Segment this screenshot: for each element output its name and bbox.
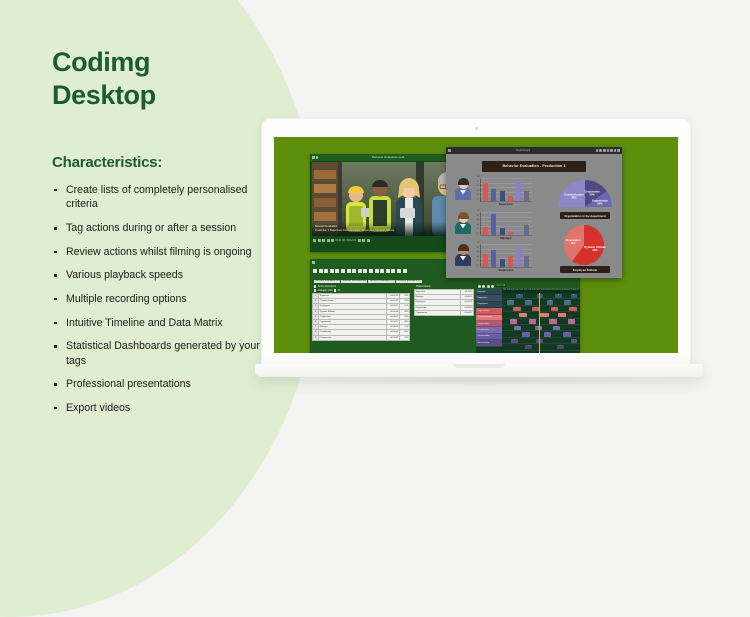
pencil-icon[interactable] — [341, 269, 345, 273]
page-title-line-2: Desktop — [52, 79, 282, 112]
dashboard-body: Behavior Evaluation - Production 1 02040… — [446, 154, 622, 278]
timeline-event[interactable]: 1 — [511, 339, 518, 343]
laptop-screen: Behavior Evaluation.codt — [274, 137, 678, 353]
bar[interactable] — [491, 250, 496, 267]
ruler-tick: 1:00 — [503, 290, 506, 291]
laptop-mockup: Behavior Evaluation.codt — [255, 118, 703, 386]
timeline-event[interactable]: 1 — [522, 332, 530, 336]
page-title-line-1: Codimg — [52, 46, 282, 79]
chart-icon[interactable] — [397, 269, 401, 273]
rewind-icon[interactable] — [478, 285, 481, 288]
ruler-tick: 3:00 — [511, 290, 514, 291]
playlist-panel-label: Playlist Matrix — [416, 285, 431, 288]
y-tick-label: 60 — [477, 186, 479, 187]
y-tick-label: 100 — [477, 243, 480, 244]
person-icon[interactable] — [335, 269, 339, 273]
pie-slice-value: 60% — [592, 248, 598, 252]
radio-icon[interactable] — [334, 289, 336, 291]
link-icon[interactable] — [358, 269, 362, 273]
table-cell: Organization — [415, 310, 461, 315]
y-tick-label: 80 — [477, 216, 479, 217]
timeline-event[interactable]: 4 — [571, 294, 577, 298]
video-caption-line-1: Behavior Evaluation — [312, 222, 468, 229]
avatar-supervisor — [454, 178, 472, 200]
table-cell: 00:04:57 — [460, 310, 473, 315]
maximize-icon[interactable] — [614, 149, 617, 152]
timeline-event[interactable]: 4 — [568, 319, 575, 323]
table-icon[interactable] — [375, 269, 379, 273]
table-cell: Conversation — [319, 335, 386, 340]
video-caption-line-2: Production 1 Supervisor, Communication, … — [312, 229, 468, 233]
y-tick-label: 100 — [477, 211, 480, 212]
bar[interactable] — [508, 232, 513, 235]
bar-chart-supervisor[interactable]: 020406080100Supervisor — [480, 178, 532, 206]
ruler-tick: 8:00 — [532, 290, 535, 291]
timeline-timecode: 00:01:38 — [496, 285, 507, 287]
timeline-body: Show descriptors Category (10) All 1Supe… — [310, 283, 580, 353]
timeline-event[interactable]: 1 — [519, 313, 527, 317]
bar[interactable] — [483, 183, 488, 201]
y-tick-label: 100 — [477, 177, 480, 178]
feature-item: Statistical Dashboards generated by your… — [52, 339, 282, 368]
video-window-title: Behavior Evaluation.codt — [318, 156, 458, 159]
y-tick-label: 40 — [477, 257, 479, 258]
bar[interactable] — [516, 232, 521, 234]
table-row[interactable]: 9Conversation00:06:0210% — [313, 335, 410, 340]
ruler-tick: 2:00 — [507, 290, 510, 291]
timeline-event[interactable]: 3 — [551, 307, 558, 311]
ruler-tick: 6:00 — [524, 290, 527, 291]
timeline-event[interactable]: 3 — [558, 313, 566, 317]
bar[interactable] — [500, 259, 505, 267]
bar-chart-manager[interactable]: 020406080100Manager — [480, 212, 532, 240]
feature-item: Export videos — [52, 401, 282, 416]
bar[interactable] — [516, 247, 521, 267]
timeline-right-pane: 00:01:38 ManagerSupervisorEmployeesOrgan… — [476, 283, 580, 353]
step-forward-icon[interactable] — [327, 239, 330, 242]
search-icon[interactable] — [386, 269, 390, 273]
y-tick-label: 20 — [477, 195, 479, 196]
edit-icon[interactable] — [358, 239, 361, 242]
timeline-event[interactable]: 3 — [553, 326, 559, 330]
y-tick-label: 80 — [477, 248, 479, 249]
video-caption-overlay: Behavior Evaluation Production 1 Supervi… — [312, 222, 468, 236]
dashboard-window-title: Dashboard — [451, 149, 596, 152]
bar[interactable] — [483, 254, 488, 267]
ruler-tick: 18:00 — [574, 290, 578, 291]
pie-slice-value: 30% — [590, 192, 596, 196]
playlist-panel-label-row: Playlist Matrix — [416, 285, 474, 288]
timeline-event[interactable]: 1 — [514, 326, 521, 330]
lock-icon[interactable] — [330, 269, 334, 273]
bar[interactable] — [524, 256, 529, 267]
timeline-event[interactable]: 2 — [529, 319, 536, 323]
feature-item: Intuitive Timeline and Data Matrix — [52, 316, 282, 331]
bar[interactable] — [491, 189, 496, 201]
record-icon[interactable] — [491, 285, 494, 288]
scissors-icon[interactable] — [367, 239, 370, 242]
timeline-canvas[interactable]: 1:002:003:004:005:006:007:008:009:0010:0… — [502, 289, 580, 353]
timeline-event[interactable]: 3 — [571, 339, 577, 343]
minimize-icon[interactable] — [603, 149, 606, 152]
y-tick-label: 0 — [477, 266, 478, 267]
table-row[interactable]: Organization00:04:57 — [415, 310, 474, 315]
feature-item: Multiple recording options — [52, 292, 282, 307]
bar-chart-title: Manager — [480, 236, 532, 240]
page-title: Codimg Desktop — [52, 46, 282, 112]
grid-icon[interactable] — [369, 269, 373, 273]
timeline-event[interactable]: 3 — [563, 332, 571, 336]
checkbox-icon[interactable] — [314, 285, 316, 287]
video-timecode: 00:01:38 / 00:12:04 — [336, 239, 357, 242]
show-descriptors-checkbox[interactable]: Show descriptors — [314, 285, 410, 288]
bar[interactable] — [500, 191, 505, 201]
laptop-lid: Behavior Evaluation.codt — [261, 118, 691, 366]
dashboard-titlebar[interactable]: Dashboard — [446, 147, 622, 154]
features-list: Create lists of completely personalised … — [52, 183, 282, 416]
dashboard-window-controls[interactable] — [596, 149, 620, 152]
bar[interactable] — [491, 214, 496, 234]
pie-chart-organization-label: Organization in the department — [560, 212, 610, 219]
settings-icon[interactable] — [599, 149, 602, 152]
y-tick-label: 0 — [477, 234, 478, 235]
category-panel-label: Category (10) — [318, 289, 333, 292]
plus-icon[interactable] — [363, 269, 367, 273]
timeline-event[interactable]: 4 — [569, 307, 577, 311]
zoom-out-icon[interactable] — [391, 269, 395, 273]
bar-chart-title: Supervisor — [480, 202, 532, 206]
timeline-rows[interactable]: 123412341234123123412312312312 — [502, 293, 580, 351]
y-tick-label: 60 — [477, 220, 479, 221]
avatar-manager — [454, 212, 472, 234]
copy-icon[interactable] — [380, 269, 384, 273]
timeline-event[interactable]: 2 — [539, 313, 548, 317]
rewind-icon[interactable] — [313, 239, 316, 242]
playlist-table[interactable]: Supervisor00:11:12Manager00:08:14Employe… — [414, 289, 474, 316]
app-icon — [312, 156, 315, 159]
edit-icon[interactable] — [596, 149, 599, 152]
timeline-row-labels[interactable]: ManagerSupervisorEmployeesOrganizationCo… — [476, 289, 502, 353]
laptop-notch — [453, 364, 505, 368]
category-count-row[interactable]: Category (10) All — [314, 289, 410, 292]
bar[interactable] — [524, 225, 529, 234]
cloud-icon[interactable] — [403, 269, 407, 273]
playlist-matrix-panel: Playlist Matrix Supervisor00:11:12Manage… — [412, 283, 476, 353]
feature-item: Create lists of completely personalised … — [52, 183, 282, 212]
characteristics-heading: Characteristics: — [52, 154, 282, 171]
avatar-employee — [454, 244, 472, 266]
y-tick-label: 40 — [477, 191, 479, 192]
forward-icon[interactable] — [331, 239, 334, 242]
avatar-hair — [458, 244, 469, 251]
bar[interactable] — [500, 228, 505, 235]
forward-icon[interactable] — [487, 285, 490, 288]
bar[interactable] — [508, 256, 513, 267]
y-tick-label: 60 — [477, 252, 479, 253]
play-icon[interactable] — [322, 239, 325, 242]
pie-chart-employee-attitude[interactable]: Dynamic Attitude60%Observation40% — [558, 224, 610, 268]
step-back-icon[interactable] — [318, 239, 321, 242]
timeline-track[interactable]: 12 — [502, 344, 580, 350]
avatar-hair — [458, 212, 469, 219]
timeline-event[interactable]: 4 — [564, 300, 571, 304]
bar-chart-title: Employees — [480, 268, 532, 272]
y-tick-label: 80 — [477, 182, 479, 183]
timeline-event[interactable]: 3 — [549, 319, 557, 323]
category-panel: Show descriptors Category (10) All 1Supe… — [310, 283, 412, 353]
all-label: All — [338, 289, 341, 292]
table-cell: 00:06:02 — [386, 335, 399, 340]
dashboard-window[interactable]: Dashboard Behavior Evaluation - Producti… — [446, 147, 622, 278]
bar-chart-employees[interactable]: 020406080100Employees — [480, 244, 532, 272]
video-player-surface[interactable]: Behavior Evaluation Production 1 Supervi… — [312, 162, 468, 236]
timeline-playhead[interactable] — [539, 293, 540, 353]
avatar-hair — [458, 178, 469, 185]
restore-icon[interactable] — [607, 149, 610, 152]
y-tick-label: 40 — [477, 225, 479, 226]
dashboard-heading: Behavior Evaluation - Production 1 — [482, 161, 586, 172]
pie-chart-organization[interactable]: Communication50%Cooperation30%Organizati… — [556, 176, 614, 210]
feature-item: Tag actions during or after a session — [52, 221, 282, 236]
table-cell: 10% — [399, 335, 409, 340]
bar[interactable] — [516, 181, 521, 201]
feature-item: Various playback speeds — [52, 268, 282, 283]
timeline-event[interactable]: 1 — [510, 319, 517, 323]
ruler-tick: 5:00 — [520, 290, 523, 291]
laptop-shadow — [269, 376, 689, 385]
bar[interactable] — [483, 227, 488, 235]
timeline-event[interactable]: 1 — [507, 300, 514, 304]
print-icon[interactable] — [610, 149, 613, 152]
timeline-event[interactable]: 2 — [536, 339, 543, 343]
close-icon[interactable] — [617, 149, 620, 152]
play-icon[interactable] — [482, 285, 485, 288]
timeline-event[interactable]: 2 — [544, 332, 551, 336]
bar[interactable] — [524, 191, 529, 200]
webcam-icon — [475, 127, 478, 130]
y-tick-label: 20 — [477, 229, 479, 230]
timeline-event[interactable]: 3 — [547, 300, 553, 304]
pie-slice-value: 40% — [570, 241, 576, 245]
trash-icon[interactable] — [352, 269, 356, 273]
show-descriptors-label: Show descriptors — [318, 285, 336, 288]
pie-slice-value: 20% — [597, 202, 603, 206]
y-tick-label: 20 — [477, 261, 479, 262]
list-icon[interactable] — [313, 269, 317, 273]
ruler-tick: 9:00 — [536, 290, 539, 291]
timeline-row-label[interactable]: Reclamation — [476, 340, 502, 346]
feature-item: Review actions whilst filming is ongoing — [52, 245, 282, 260]
timeline-event[interactable]: 1 — [513, 307, 521, 311]
timeline-event[interactable]: 2 — [557, 345, 564, 349]
folder-icon[interactable] — [319, 269, 323, 273]
checkbox-icon[interactable] — [314, 289, 316, 291]
y-tick-label: 0 — [477, 200, 478, 201]
timeline-event[interactable]: 1 — [516, 294, 523, 298]
feature-item: Professional presentations — [52, 377, 282, 392]
pie-chart-employee-attitude-label: Employee Attitude — [560, 266, 610, 273]
pencil-icon[interactable] — [362, 239, 365, 242]
bar[interactable] — [508, 196, 513, 201]
timeline-event[interactable]: 3 — [555, 294, 562, 298]
text-icon[interactable] — [347, 269, 351, 273]
save-icon[interactable] — [324, 269, 328, 273]
left-content-panel: Codimg Desktop Characteristics: Create l… — [52, 46, 282, 425]
timeline-event[interactable]: 1 — [525, 345, 532, 349]
categories-table[interactable]: 1Supervisor00:11:1218%2Communication00:0… — [312, 293, 410, 341]
ruler-tick: 4:00 — [515, 290, 518, 291]
timeline-event[interactable]: 2 — [525, 300, 532, 304]
timeline-grid[interactable]: ManagerSupervisorEmployeesOrganizationCo… — [476, 289, 580, 353]
pie-slice-value: 50% — [571, 195, 577, 199]
ruler-tick: 7:00 — [528, 290, 531, 291]
